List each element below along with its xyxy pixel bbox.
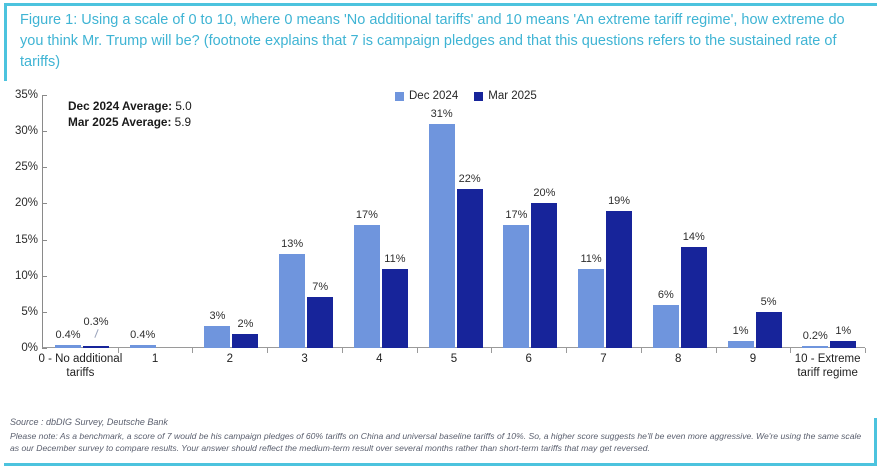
bar-dec[interactable]: [728, 341, 754, 348]
bar-mar[interactable]: [830, 341, 856, 348]
bar-group: 17%11%: [342, 95, 417, 348]
bar-dec[interactable]: [130, 345, 156, 348]
frame-left-border: [4, 3, 7, 81]
bar-value-label: 20%: [521, 187, 567, 199]
bar-value-label: 11%: [372, 253, 418, 265]
bar-value-label: 31%: [419, 108, 465, 120]
bar-mar[interactable]: [606, 211, 632, 348]
bar-value-label: 17%: [344, 209, 390, 221]
bar-value-label: 1%: [820, 325, 866, 337]
bars-layer: 0.4%0.3%0.4%3%2%13%7%17%11%31%22%17%20%1…: [43, 95, 865, 348]
bar-mar[interactable]: [382, 269, 408, 349]
bar-dec[interactable]: [55, 345, 81, 348]
bar-dec[interactable]: [429, 124, 455, 348]
bar-value-label: 7%: [297, 281, 343, 293]
bar-mar[interactable]: [307, 297, 333, 348]
bar-dec[interactable]: [578, 269, 604, 349]
bar-value-label: 2%: [222, 318, 268, 330]
figure-title: Figure 1: Using a scale of 0 to 10, wher…: [20, 10, 865, 73]
bar-dec[interactable]: [653, 305, 679, 348]
y-tick-label: 35%: [15, 89, 38, 101]
footnote-text: Please note: As a benchmark, a score of …: [10, 430, 865, 455]
bar-mar[interactable]: [756, 312, 782, 348]
bar-value-label: 0.3%: [73, 316, 119, 328]
bar-value-label: 14%: [671, 231, 717, 243]
bar-value-label: 5%: [746, 296, 792, 308]
chart-area: 0%5%10%15%20%25%30%35% Dec 2024 Average:…: [0, 88, 881, 398]
source-line: Source : dbDIG Survey, Deutsche Bank: [10, 416, 865, 429]
frame-right-border: [874, 418, 877, 466]
y-tick-label: 5%: [21, 306, 38, 318]
y-axis-labels: 0%5%10%15%20%25%30%35%: [0, 95, 38, 348]
figure-container: Figure 1: Using a scale of 0 to 10, wher…: [0, 0, 881, 475]
bar-value-label: 22%: [447, 173, 493, 185]
y-tick-label: 25%: [15, 161, 38, 173]
bar-group: 0.4%: [118, 95, 193, 348]
y-tick-label: 20%: [15, 197, 38, 209]
label-leader-line: [94, 329, 98, 338]
bar-mar[interactable]: [83, 346, 109, 348]
y-tick-mark: [42, 348, 47, 349]
frame-bottom-border: [4, 463, 877, 466]
bar-group: 6%14%: [641, 95, 716, 348]
bar-dec[interactable]: [279, 254, 305, 348]
x-axis-labels: 0 - No additional tariffs12345678910 - E…: [43, 352, 865, 398]
y-tick-label: 30%: [15, 125, 38, 137]
y-tick-label: 15%: [15, 234, 38, 246]
bar-dec[interactable]: [503, 225, 529, 348]
bar-dec[interactable]: [204, 326, 230, 348]
bar-group: 11%19%: [566, 95, 641, 348]
bar-mar[interactable]: [531, 203, 557, 348]
bar-dec[interactable]: [802, 346, 828, 348]
bar-value-label: 19%: [596, 195, 642, 207]
bar-value-label: 0.4%: [120, 329, 166, 341]
bar-group: 31%22%: [417, 95, 492, 348]
bar-mar[interactable]: [457, 189, 483, 348]
x-tick-label: 10 - Extreme tariff regime: [783, 352, 873, 380]
bar-mar[interactable]: [681, 247, 707, 348]
bar-mar[interactable]: [232, 334, 258, 348]
y-tick-label: 10%: [15, 270, 38, 282]
bar-group: 13%7%: [267, 95, 342, 348]
bar-group: 0.4%0.3%: [43, 95, 118, 348]
bar-value-label: 13%: [269, 238, 315, 250]
frame-top-border: [4, 3, 877, 6]
bar-value-label: 0.4%: [45, 329, 91, 341]
figure-footer: Source : dbDIG Survey, Deutsche Bank Ple…: [10, 416, 865, 455]
bar-group: 17%20%: [491, 95, 566, 348]
bar-group: 0.2%1%: [790, 95, 865, 348]
bar-dec[interactable]: [354, 225, 380, 348]
bar-group: 3%2%: [192, 95, 267, 348]
bar-group: 1%5%: [716, 95, 791, 348]
